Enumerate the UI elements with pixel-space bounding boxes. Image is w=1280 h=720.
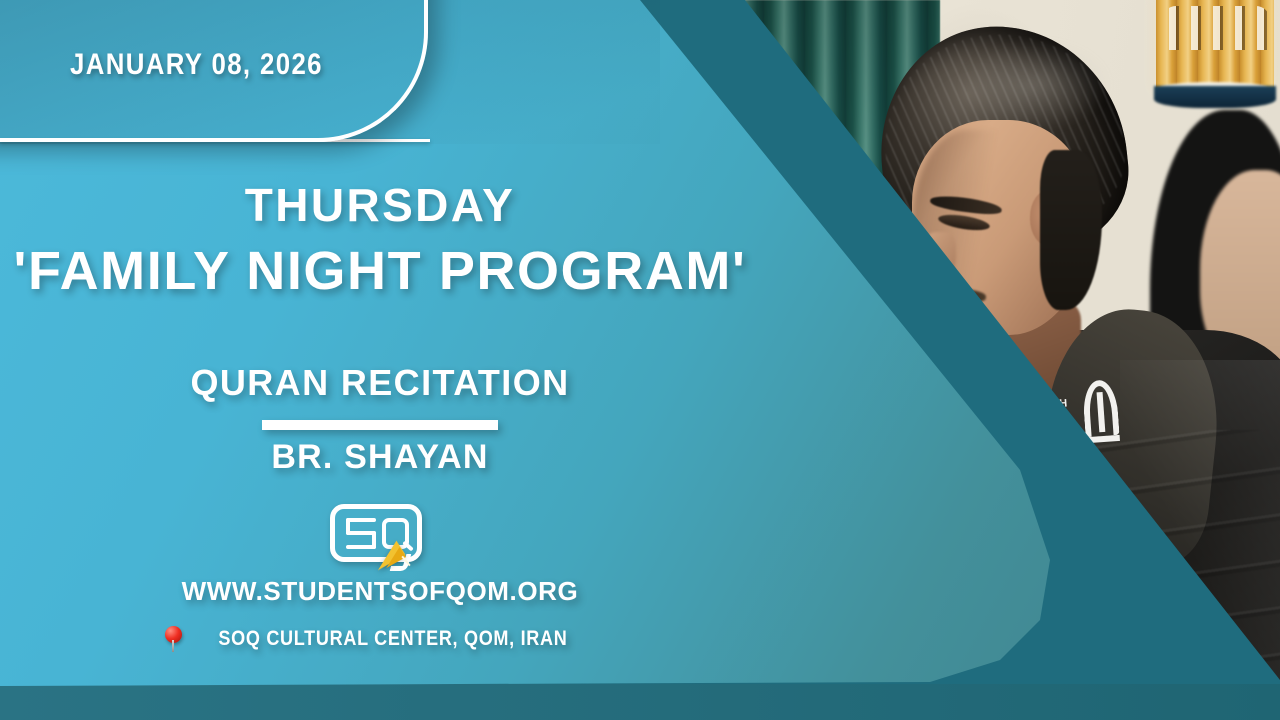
location-row: SOQ CULTURAL CENTER, QOM, IRAN [0, 626, 760, 652]
website-url[interactable]: WWW.STUDENTSOFQOM.ORG [0, 576, 760, 607]
reciter-name-text: BR. SHAYAN [271, 438, 488, 476]
program-title-text: 'FAMILY NIGHT PROGRAM' [14, 241, 747, 301]
organization-logo[interactable] [330, 504, 428, 572]
flyer-canvas: THE NORTH FACE JANUARY 08, 2026 THURSDAY… [0, 0, 1280, 720]
segment-divider-rule [262, 420, 498, 430]
program-title: 'FAMILY NIGHT PROGRAM' [0, 240, 760, 302]
day-heading-text: THURSDAY [245, 179, 516, 231]
location-pin-icon [165, 626, 182, 652]
segment-title-text: QURAN RECITATION [190, 362, 569, 403]
location-pin-needle [172, 640, 174, 652]
location-text: SOQ CULTURAL CENTER, QOM, IRAN [218, 627, 567, 651]
shrine-arch-detail [1162, 6, 1270, 50]
reciter-name: BR. SHAYAN [0, 438, 760, 477]
day-heading: THURSDAY [0, 178, 760, 232]
flyer-text-content: THURSDAY 'FAMILY NIGHT PROGRAM' QURAN RE… [0, 0, 760, 720]
website-url-text: WWW.STUDENTSOFQOM.ORG [182, 576, 579, 606]
logo-s-bottom-bar [346, 545, 376, 549]
shrine-base [1154, 86, 1276, 108]
logo-s-top-bar [346, 518, 376, 522]
segment-title: QURAN RECITATION [0, 362, 760, 404]
logo-letter-s-icon [346, 518, 376, 549]
